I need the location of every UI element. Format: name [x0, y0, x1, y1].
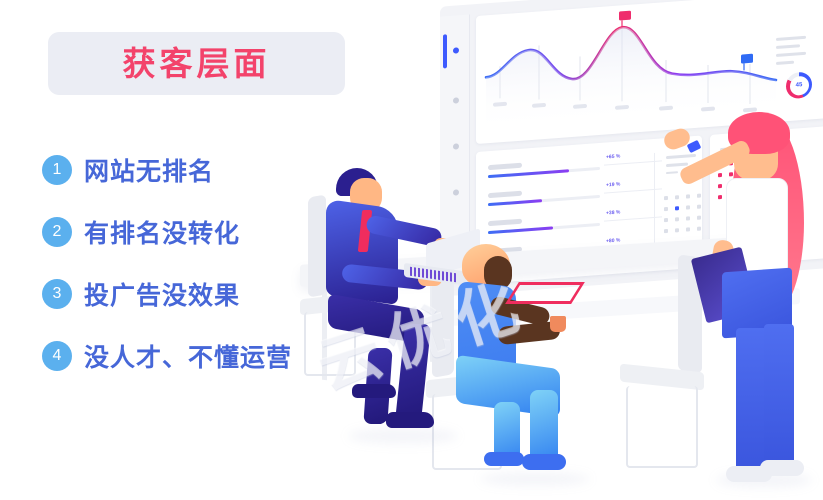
sidebar-active-indicator	[443, 34, 447, 68]
coffee-cup	[550, 316, 566, 332]
seated-shoe-2	[484, 452, 524, 466]
presenter-shoe-2	[760, 460, 804, 476]
metric-percent: +19 %	[606, 181, 620, 188]
list-item-label: 没人才、不懂运营	[84, 338, 292, 374]
sidebar-dot-1-icon[interactable]	[453, 47, 459, 53]
seated-shoe	[522, 454, 566, 470]
list-item-label: 投广告没效果	[84, 276, 240, 312]
businessman-shoe-2	[352, 384, 396, 398]
secondary-marker-icon	[741, 54, 753, 71]
list-number-badge: 1	[42, 155, 72, 185]
businessman-shoe	[386, 412, 434, 428]
person-presenter	[680, 112, 823, 492]
poster-canvas: 获客层面 1 网站无排名 2 有排名没转化 3 投广告没效果 4 没人才、不懂运…	[0, 0, 823, 500]
person-seated	[450, 240, 630, 490]
metric-percent: +65 %	[606, 153, 620, 160]
metric-percent: +38 %	[606, 209, 620, 216]
gauge-value: 45	[796, 82, 803, 88]
seated-notebook	[505, 282, 585, 304]
panel-divider	[654, 153, 655, 257]
list-number-badge: 2	[42, 217, 72, 247]
illustration-scene: 45 +65 % +19 %	[300, 0, 823, 500]
list-number-badge: 3	[42, 279, 72, 309]
list-number-badge: 4	[42, 341, 72, 371]
sidebar-dot-2-icon[interactable]	[453, 97, 459, 103]
summary-line	[666, 171, 678, 174]
list-item-label: 网站无排名	[84, 152, 214, 188]
presenter-leg-2	[764, 324, 794, 470]
peak-marker-icon	[619, 11, 631, 28]
figure-shadow	[480, 472, 590, 486]
list-item-label: 有排名没转化	[84, 214, 240, 250]
page-title: 获客层面	[123, 47, 271, 80]
chart-legend-lines	[776, 36, 806, 65]
figure-shadow	[348, 428, 458, 444]
sidebar-dot-3-icon[interactable]	[453, 143, 459, 149]
